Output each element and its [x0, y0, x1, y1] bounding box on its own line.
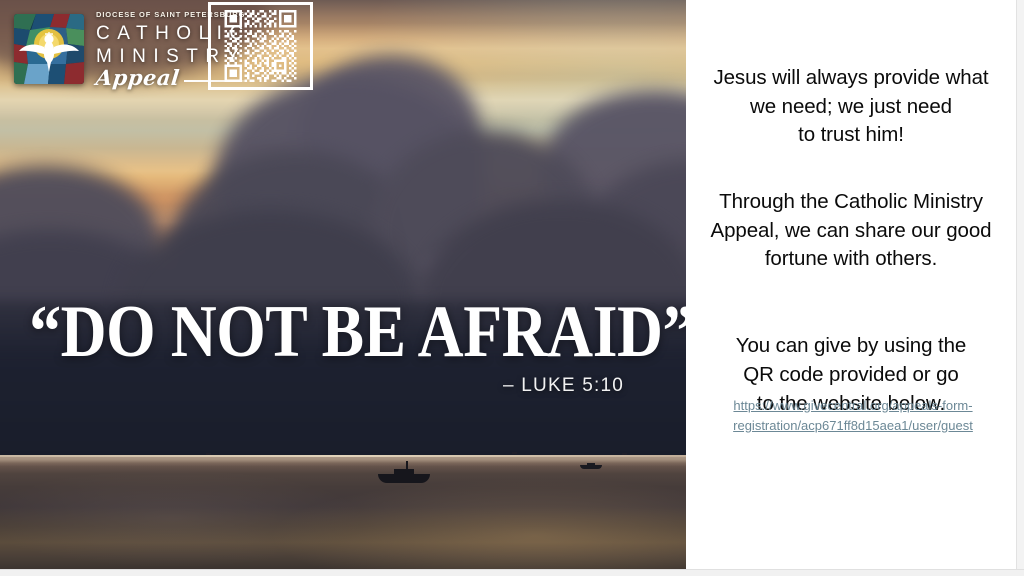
- quote-attribution: – LUKE 5:10: [0, 375, 660, 397]
- slide-bottom-edge: [0, 569, 1024, 576]
- paragraph1-line2: we need; we just need: [700, 93, 1002, 122]
- horizon-line: [0, 455, 686, 457]
- paragraph-gap: [700, 274, 1002, 332]
- qr-code-modules: [216, 10, 305, 82]
- scripture-quote-block: “DO NOT BE AFRAID” – LUKE 5:10: [0, 296, 660, 397]
- paragraph2-line3: fortune with others.: [700, 245, 1002, 274]
- slide-right-edge: [1016, 0, 1024, 570]
- paragraph1-line3: to trust him!: [700, 121, 1002, 150]
- paragraph2-line2: Appeal, we can share our good: [700, 217, 1002, 246]
- distant-vessel: [622, 453, 627, 455]
- quote-text: “DO NOT BE AFRAID”: [0, 296, 568, 369]
- distant-vessel: [512, 452, 517, 454]
- donation-url-link[interactable]: https://www.givecentral.org/appeals-form…: [704, 396, 1002, 435]
- boat-cabin: [394, 469, 414, 475]
- dove-stained-glass-icon: [14, 14, 84, 84]
- boat-cabin: [587, 463, 595, 466]
- boat-mast: [406, 461, 408, 471]
- paragraph-gap: [700, 150, 1002, 188]
- fishing-boat-large: [378, 467, 430, 483]
- ocean-shimmer: [0, 455, 686, 570]
- fishing-boat-small: [580, 461, 602, 469]
- message-panel: Jesus will always provide what we need; …: [686, 0, 1024, 570]
- sunset-ocean-photo: “DO NOT BE AFRAID” – LUKE 5:10: [0, 0, 686, 570]
- qr-code[interactable]: [208, 2, 313, 90]
- logo-script-appeal: Appeal: [95, 67, 181, 88]
- paragraph1-line1: Jesus will always provide what: [700, 64, 1002, 93]
- boat-hull: [378, 474, 430, 483]
- paragraph3-line1: You can give by using the: [700, 332, 1002, 361]
- distant-vessel: [206, 453, 211, 455]
- presentation-slide: “DO NOT BE AFRAID” – LUKE 5:10: [0, 0, 1024, 576]
- paragraph3-line2: QR code provided or go: [700, 361, 1002, 390]
- panel-copy: Jesus will always provide what we need; …: [700, 64, 1002, 418]
- paragraph2-line1: Through the Catholic Ministry: [700, 188, 1002, 217]
- ocean: [0, 455, 686, 570]
